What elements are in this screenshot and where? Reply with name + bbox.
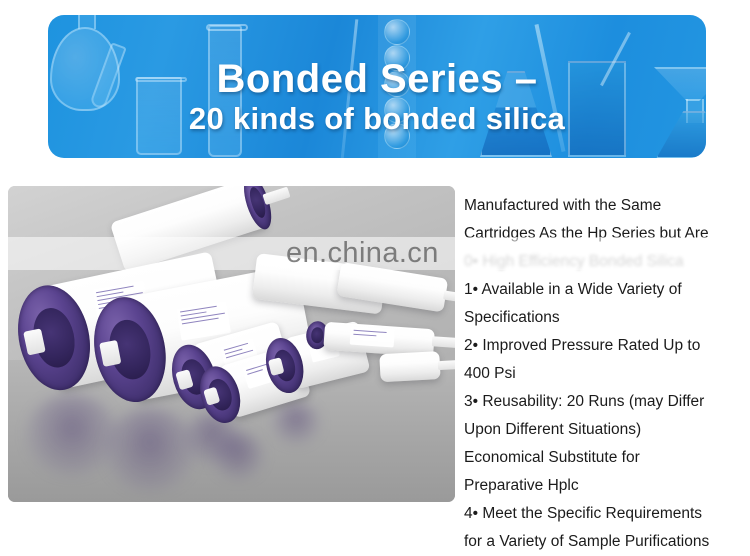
product-description: Manufactured with the SameCartridges As … bbox=[464, 192, 748, 556]
bubble-column-icon bbox=[378, 15, 416, 158]
cartridge-reflection bbox=[104, 408, 196, 492]
cartridge-reflection bbox=[212, 432, 264, 480]
description-line: 3• Reusability: 20 Runs (may Differ bbox=[464, 388, 748, 416]
description-line: Upon Different Situations) bbox=[464, 416, 748, 444]
erlenmeyer-flask-icon bbox=[480, 71, 552, 157]
description-line: 4• Meet the Specific Requirements bbox=[464, 500, 748, 528]
description-line: 400 Psi bbox=[464, 360, 748, 388]
glassware-illustration bbox=[48, 15, 706, 158]
product-photo bbox=[8, 186, 455, 502]
cartridge-spout bbox=[432, 336, 455, 348]
cartridge-spout bbox=[262, 187, 290, 205]
description-line: 1• Available in a Wide Variety of bbox=[464, 276, 748, 304]
cartridge-spout bbox=[438, 360, 455, 370]
cartridge-body bbox=[379, 351, 440, 382]
cartridge-label bbox=[350, 327, 395, 348]
description-line: Manufactured with the Same bbox=[464, 192, 748, 220]
description-line: for a Variety of Sample Purifications bbox=[464, 528, 748, 556]
cartridge-spout bbox=[443, 290, 455, 303]
hero-banner: Bonded Series – 20 kinds of bonded silic… bbox=[48, 15, 706, 158]
funnel-icon bbox=[654, 67, 706, 101]
description-line: Cartridges As the Hp Series but Are bbox=[464, 220, 748, 248]
graduated-cylinder-icon bbox=[208, 25, 242, 157]
product-cartridge bbox=[379, 350, 455, 384]
description-line: Preparative Hplc bbox=[464, 472, 748, 500]
square-beaker-icon bbox=[568, 61, 626, 157]
erlenmeyer-flask-secondary-icon bbox=[656, 111, 706, 158]
stirring-rod-icon bbox=[341, 19, 359, 158]
beaker-icon bbox=[136, 77, 182, 155]
description-line: Economical Substitute for bbox=[464, 444, 748, 472]
description-line: 0• High Efficiency Bonded Silica bbox=[464, 248, 748, 276]
description-line: 2• Improved Pressure Rated Up to bbox=[464, 332, 748, 360]
description-line: Specifications bbox=[464, 304, 748, 332]
